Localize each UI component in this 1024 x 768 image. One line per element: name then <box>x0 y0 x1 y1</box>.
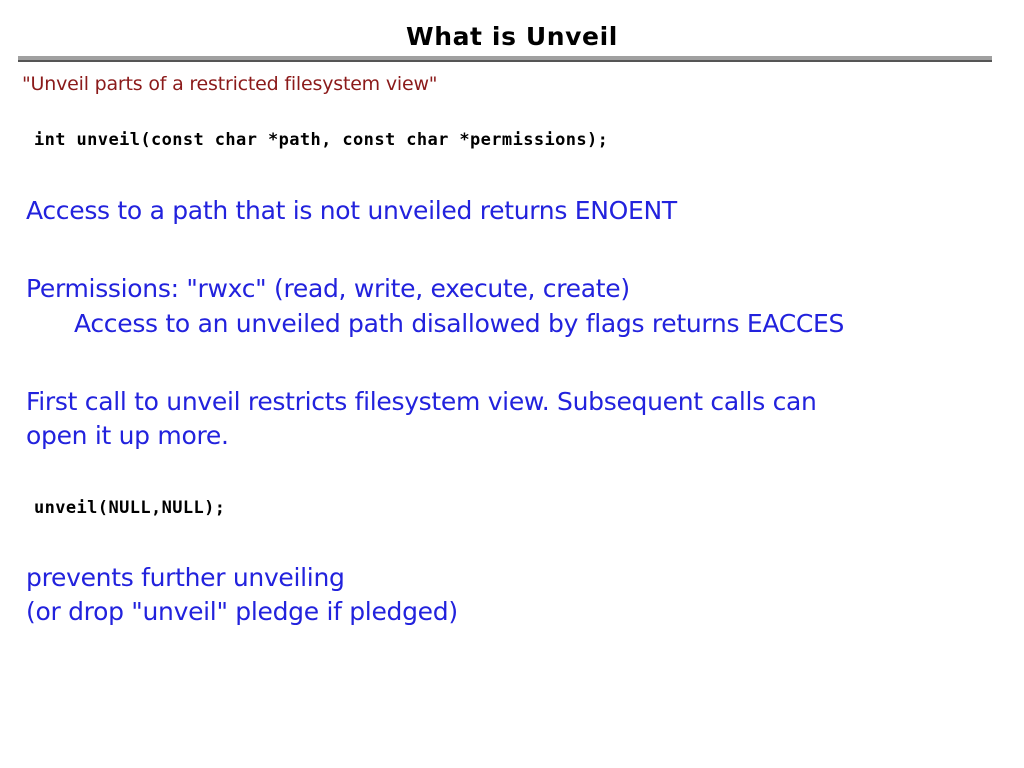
line-access-enoent: Access to a path that is not unveiled re… <box>26 196 677 226</box>
paragraph-first-call-line1: First call to unveil restricts filesyste… <box>26 387 817 417</box>
divider-dark-band <box>18 60 992 62</box>
line-permissions: Permissions: "rwxc" (read, write, execut… <box>26 274 630 304</box>
code-unveil-signature: int unveil(const char *path, const char … <box>34 130 608 150</box>
code-unveil-null-call: unveil(NULL,NULL); <box>34 498 225 518</box>
slide-canvas: What is Unveil "Unveil parts of a restri… <box>0 0 1024 768</box>
unveil-quote-text: "Unveil parts of a restricted filesystem… <box>22 73 437 95</box>
line-prevents-further-unveiling: prevents further unveiling <box>26 563 345 593</box>
line-access-eacces: Access to an unveiled path disallowed by… <box>74 309 844 339</box>
paragraph-first-call-line2: open it up more. <box>26 421 229 451</box>
title-divider <box>18 56 992 62</box>
page-title: What is Unveil <box>0 22 1024 51</box>
line-or-drop-pledge: (or drop "unveil" pledge if pledged) <box>26 597 458 627</box>
